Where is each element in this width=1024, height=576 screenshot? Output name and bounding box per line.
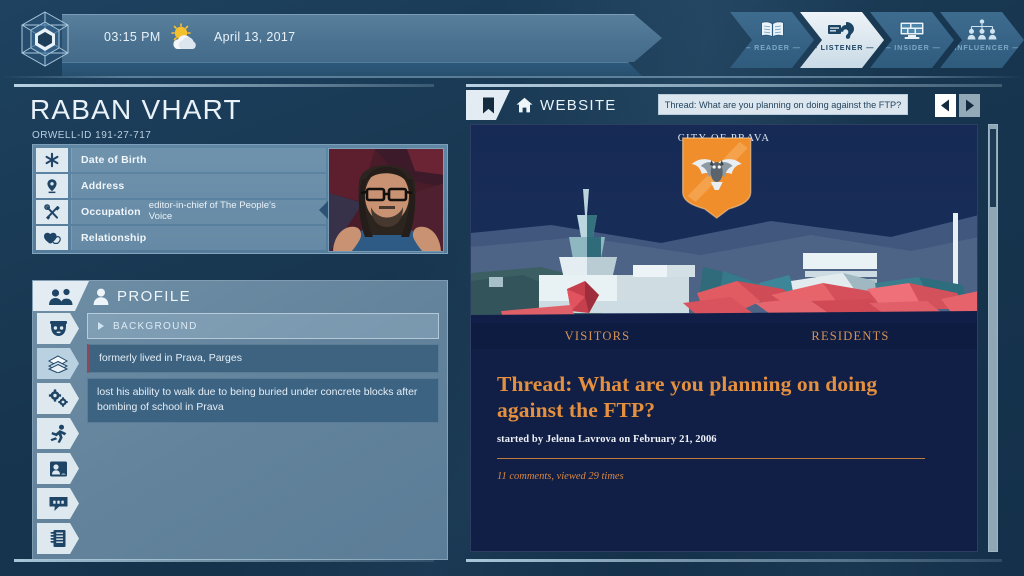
asterisk-icon xyxy=(36,148,68,172)
profile-panel-body: BACKGROUND formerly lived in Prava, Parg… xyxy=(33,311,447,561)
top-bar-underslab xyxy=(62,62,642,76)
profile-panel-tab[interactable] xyxy=(33,281,89,311)
info-row-body: Date of Birth xyxy=(71,148,326,172)
list-item[interactable]: lost his ability to walk due to being bu… xyxy=(87,378,439,422)
thread-byline: started by Jelena Lavrova on February 21… xyxy=(497,434,951,445)
page-title: RABAN VHART xyxy=(30,94,242,126)
profile-panel: PROFILE xyxy=(32,280,448,560)
thread-title: Thread: What are you planning on doing a… xyxy=(497,371,917,423)
browser-nav-buttons xyxy=(935,94,980,117)
info-row-date-of-birth[interactable]: Date of Birth xyxy=(36,148,326,172)
hero-tab-residents[interactable]: RESIDENTS xyxy=(724,329,977,344)
thread-divider xyxy=(497,458,925,459)
thread-stats: 11 comments, viewed 29 times xyxy=(497,471,951,482)
left-panel-bottom-rule xyxy=(14,559,434,562)
speech-bubble-icon xyxy=(48,495,69,512)
avatar xyxy=(328,148,444,252)
mask-icon xyxy=(49,319,68,338)
rail-item-mask[interactable] xyxy=(37,313,79,344)
profile-section-header-label: BACKGROUND xyxy=(113,321,198,332)
open-book-icon xyxy=(760,17,785,42)
bookmark-button[interactable] xyxy=(466,90,510,120)
info-label: Relationship xyxy=(81,232,146,244)
right-panel-bottom-rule xyxy=(466,559,1002,562)
thread-article: Thread: What are you planning on doing a… xyxy=(471,349,977,482)
city-crest: CITY OF PRAVA xyxy=(678,133,771,144)
person-badge-icon xyxy=(49,460,68,478)
tab-reader-label: — READER — xyxy=(743,43,801,52)
selection-arrow-icon xyxy=(319,201,328,219)
bookmark-icon xyxy=(482,97,495,114)
people-group-icon xyxy=(967,17,997,42)
list-item[interactable]: formerly lived in Prava, Parges xyxy=(87,344,439,373)
rail-item-records[interactable] xyxy=(37,523,79,554)
website-hero-banner: CITY OF PRAVA xyxy=(471,125,977,349)
tools-icon xyxy=(36,200,68,224)
info-label: Address xyxy=(81,180,124,192)
tab-reader[interactable]: — READER — xyxy=(730,12,814,68)
monitor-icon xyxy=(899,17,925,42)
tab-listener-label: — LISTENER — xyxy=(810,43,875,52)
info-label: Occupation xyxy=(81,206,141,218)
chevron-right-icon xyxy=(964,99,975,112)
info-row-relationship[interactable]: Relationship xyxy=(36,226,326,250)
orwell-id: ORWELL-ID 191-27-717 xyxy=(32,130,151,141)
info-value: editor-in-chief of The People's Voice xyxy=(149,201,299,222)
rail-item-activity[interactable] xyxy=(37,418,79,449)
info-label: Date of Birth xyxy=(81,154,147,166)
person-dossier-panel: RABAN VHART ORWELL-ID 191-27-717 xyxy=(14,84,448,562)
date-text: April 13, 2017 xyxy=(214,30,295,44)
browser-title-group: WEBSITE xyxy=(516,97,617,114)
profile-panel-title-group: PROFILE xyxy=(93,288,191,305)
top-bar-divider xyxy=(0,76,1024,78)
orwell-app-window: 03:15 PM April 13, 2017 xyxy=(0,0,1024,576)
info-row-body: Occupation editor-in-chief of The People… xyxy=(71,200,326,224)
mode-tabs: — READER — — LISTENER — xyxy=(744,12,1024,68)
browser-viewport[interactable]: CITY OF PRAVA xyxy=(470,124,978,552)
book-stack-icon xyxy=(48,355,68,373)
info-row-body: Relationship xyxy=(71,226,326,250)
sun-behind-cloud-icon xyxy=(168,23,202,53)
address-bar[interactable]: Thread: What are you planning on doing a… xyxy=(658,94,908,115)
browser-panel: WEBSITE Thread: What are you planning on… xyxy=(466,84,1010,562)
person-info-rows: Date of Birth Address xyxy=(33,145,329,253)
triangle-right-icon xyxy=(98,322,104,330)
rail-item-conversations[interactable] xyxy=(37,488,79,519)
people-group-icon xyxy=(49,288,74,305)
tab-influencer-label: — INFLUENCER — xyxy=(943,43,1020,52)
scrollbar-thumb[interactable] xyxy=(990,129,996,207)
top-bar: 03:15 PM April 13, 2017 xyxy=(0,0,1024,78)
ledger-icon xyxy=(50,529,67,548)
info-row-body: Address xyxy=(71,174,326,198)
tab-insider-label: — INSIDER — xyxy=(883,43,940,52)
right-panel-top-rule xyxy=(466,84,1002,87)
gears-icon xyxy=(48,389,69,408)
info-row-occupation[interactable]: Occupation editor-in-chief of The People… xyxy=(36,200,326,224)
orwell-id-label: ORWELL-ID xyxy=(32,130,92,141)
forward-button[interactable] xyxy=(959,94,980,117)
browser-scrollbar[interactable] xyxy=(988,124,998,552)
hexagon-logo-icon xyxy=(14,8,76,70)
map-pin-icon xyxy=(36,174,68,198)
hero-tab-visitors[interactable]: VISITORS xyxy=(471,329,724,344)
heart-link-icon xyxy=(36,226,68,250)
person-icon xyxy=(93,288,109,305)
profile-section-header[interactable]: BACKGROUND xyxy=(87,313,439,339)
person-info-card: Date of Birth Address xyxy=(32,144,448,254)
rail-item-gears[interactable] xyxy=(37,383,79,414)
orwell-id-value: 191-27-717 xyxy=(95,130,151,141)
website-hero-tabs: VISITORS RESIDENTS xyxy=(471,323,977,349)
info-row-address[interactable]: Address xyxy=(36,174,326,198)
home-icon xyxy=(516,97,533,113)
back-button[interactable] xyxy=(935,94,956,117)
profile-panel-header: PROFILE xyxy=(33,281,447,311)
chevron-left-icon xyxy=(940,99,951,112)
running-person-icon xyxy=(49,424,68,443)
profile-entry-list: BACKGROUND formerly lived in Prava, Parg… xyxy=(83,311,447,561)
ear-audio-icon xyxy=(827,17,858,42)
profile-category-rail xyxy=(33,311,83,561)
rail-item-book[interactable] xyxy=(37,348,79,379)
browser-title: WEBSITE xyxy=(540,97,617,114)
browser-header: WEBSITE Thread: What are you planning on… xyxy=(466,90,1002,120)
profile-panel-title: PROFILE xyxy=(117,288,191,305)
left-panel-top-rule xyxy=(14,84,434,87)
clock-time: 03:15 PM xyxy=(104,30,161,44)
rail-item-contacts[interactable] xyxy=(37,453,79,484)
